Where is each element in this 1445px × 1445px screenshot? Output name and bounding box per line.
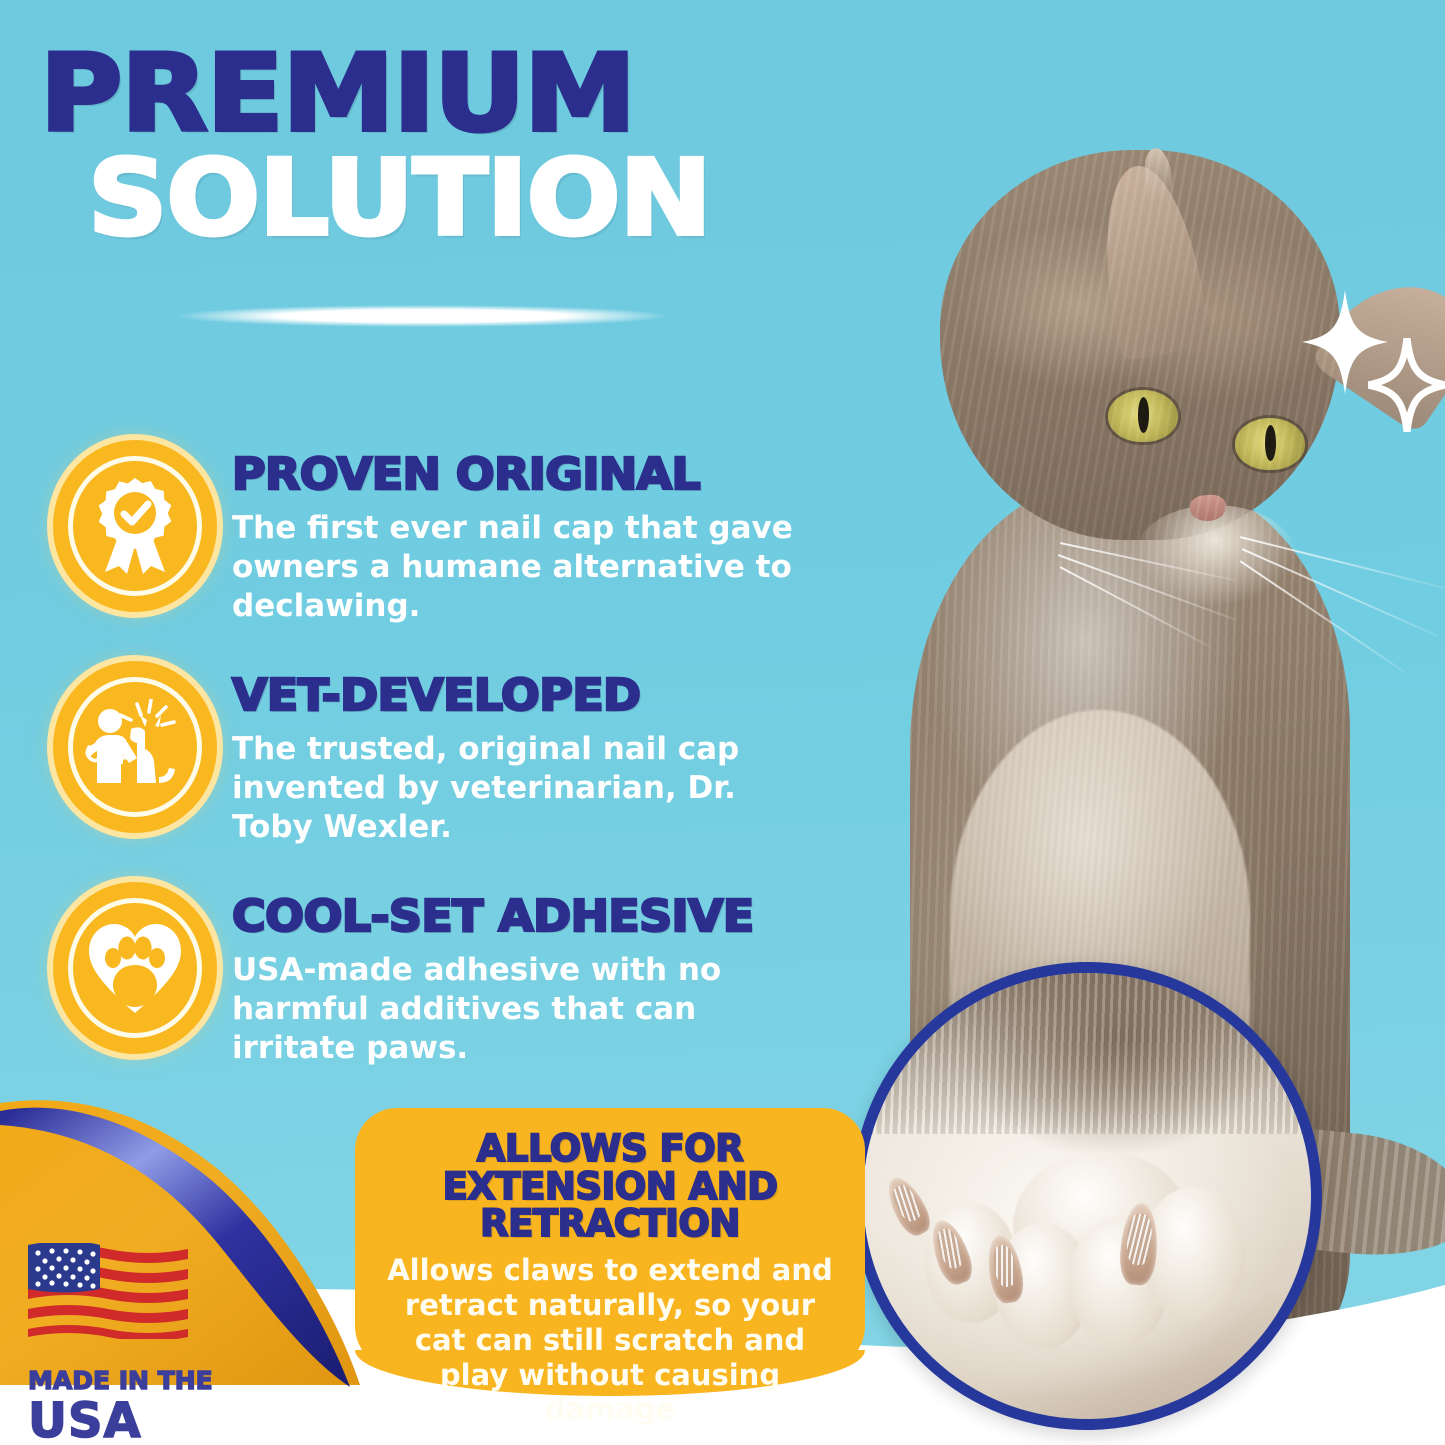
paw-inset-photo bbox=[825, 935, 1349, 1445]
sparkle-outline-icon bbox=[1368, 338, 1445, 432]
cat-eye-left bbox=[1108, 390, 1178, 442]
vet-highfive-cat-icon bbox=[60, 668, 210, 826]
feature-body: USA-made adhesive with no harmful additi… bbox=[232, 951, 812, 1068]
cat-ear-tuft bbox=[1142, 147, 1174, 202]
feature-item-proven-original: PROVEN ORIGINAL The first ever nail cap … bbox=[60, 447, 850, 626]
headline-line-2: SOLUTION bbox=[88, 151, 875, 247]
cat-head bbox=[940, 150, 1340, 540]
cat-eye-right bbox=[1235, 418, 1305, 470]
cat-ear-left bbox=[1091, 159, 1212, 361]
feature-body: The first ever nail cap that gave owners… bbox=[232, 509, 812, 626]
feature-title: VET-DEVELOPED bbox=[232, 674, 835, 718]
extension-retraction-callout: ALLOWS FOR EXTENSION AND RETRACTION Allo… bbox=[355, 1108, 865, 1370]
heart-paw-icon bbox=[60, 889, 210, 1047]
product-feature-banner: PREMIUM SOLUTION PROVEN ORIGINAL The fir… bbox=[0, 0, 1445, 1445]
feature-list: PROVEN ORIGINAL The first ever nail cap … bbox=[60, 447, 850, 1110]
feature-title: COOL-SET ADHESIVE bbox=[232, 895, 835, 939]
headline: PREMIUM SOLUTION bbox=[40, 45, 830, 246]
award-ribbon-icon bbox=[60, 447, 210, 605]
paw-toe-pad bbox=[1141, 1187, 1245, 1321]
callout-title: ALLOWS FOR EXTENSION AND RETRACTION bbox=[381, 1130, 839, 1243]
feature-item-vet-developed: VET-DEVELOPED The trusted, original nail… bbox=[60, 668, 850, 847]
feature-title: PROVEN ORIGINAL bbox=[232, 453, 835, 497]
nail-cap bbox=[880, 1172, 936, 1241]
headline-line-1: PREMIUM bbox=[40, 45, 877, 143]
made-in-usa-label: MADE IN THE USA bbox=[28, 1368, 213, 1445]
feature-item-cool-set-adhesive: COOL-SET ADHESIVE USA-made adhesive with… bbox=[60, 889, 850, 1068]
paw-fur-top bbox=[863, 973, 1311, 1134]
usa-flag-icon bbox=[28, 1243, 188, 1339]
made-in-usa-line-1: MADE IN THE bbox=[28, 1368, 213, 1393]
feature-body: The trusted, original nail cap invented … bbox=[232, 730, 812, 847]
cat-nose bbox=[1189, 494, 1227, 522]
made-in-usa-line-2: USA bbox=[28, 1397, 213, 1445]
callout-body: Allows claws to extend and retract natur… bbox=[381, 1253, 839, 1427]
headline-divider bbox=[175, 305, 670, 327]
